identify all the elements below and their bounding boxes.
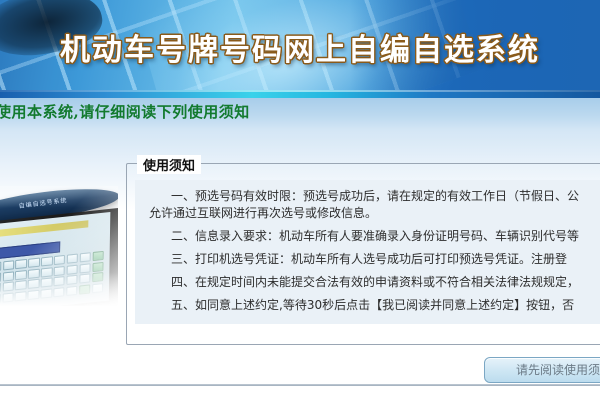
kiosk-key [41,267,52,277]
notice-item-line: 一、预选号码有效时限：预选号成功后，请在规定的有效工作日（节假日、公 [149,188,600,205]
kiosk-key [3,260,14,270]
kiosk-key [28,268,39,278]
kiosk-key [0,262,1,272]
notice-item: 三、打印机选号凭证：机动车所有人选号成功后可打印预选号凭证。注册登 [135,251,600,268]
notice-item-line: 四、在规定时间内未能提交合法有效的申请资料或不符合相关法律法规规定， [149,274,600,291]
kiosk-key [2,281,13,291]
kiosk-key [15,280,26,290]
kiosk-key [92,251,103,261]
kiosk-key [54,265,65,275]
kiosk-key [41,277,52,287]
notice-item: 一、预选号码有效时限：预选号成功后，请在规定的有效工作日（节假日、公 允许通过互… [135,188,600,222]
notice-item: 四、在规定时间内未能提交合法有效的申请资料或不符合相关法律法规规定， [135,274,600,291]
notice-item-line: 三、打印机选号凭证：机动车所有人选号成功后可打印预选号凭证。注册登 [149,251,600,268]
kiosk-screen-titlebar [0,220,88,240]
kiosk-key [41,288,52,298]
subtitle-text: 使用本系统,请仔细阅读下列使用须知 [0,101,250,122]
usage-notice-body: 一、预选号码有效时限：预选号成功后，请在规定的有效工作日（节假日、公 允许通过互… [135,180,600,324]
notice-item: 二、信息录入要求：机动车所有人要准确录入身份证明号码、车辆识别代号等 [135,228,600,245]
kiosk-key [0,293,1,303]
kiosk-key [3,271,14,281]
kiosk-key [41,256,52,266]
page-title: 机动车号牌号码网上自编自选系统 [0,25,600,69]
notice-item-line: 五、如同意上述约定,等待30秒后点击【我已阅读并同意上述约定】按钮，否 [149,297,600,314]
kiosk-key [67,254,78,264]
kiosk-key [16,259,27,269]
page-root: 机动车号牌号码网上自编自选系统 机动车号牌号码网上自编自选系统 使用本系统,请仔… [0,0,600,400]
kiosk-key [54,276,65,286]
kiosk-key [79,284,90,294]
kiosk-photo: 自编自选号系统 [0,186,118,306]
notice-item-line-cont: 允许通过互联网进行再次选号或修改信息。 [149,205,600,222]
kiosk-key [92,261,103,271]
notice-item-line: 二、信息录入要求：机动车所有人要准确录入身份证明号码、车辆识别代号等 [149,228,600,245]
kiosk-key [54,255,65,265]
kiosk-key [2,292,13,302]
kiosk-key [79,252,90,262]
kiosk-key [92,283,103,293]
header-divider-highlight [0,90,600,92]
kiosk-key [92,272,103,282]
kiosk-key [28,289,39,299]
kiosk-key [79,263,90,273]
kiosk-key [66,264,77,274]
kiosk-key [66,275,77,285]
kiosk-key [0,272,1,282]
kiosk-key [15,269,26,279]
usage-notice-panel: 使用须知 一、预选号码有效时限：预选号成功后，请在规定的有效工作日（节假日、公 … [126,163,600,345]
kiosk-screen [0,212,110,306]
kiosk-key [0,283,1,293]
kiosk-key [28,279,39,289]
kiosk-key [15,291,26,301]
notice-item: 五、如同意上述约定,等待30秒后点击【我已阅读并同意上述约定】按钮，否 [135,297,600,314]
usage-notice-legend: 使用须知 [137,155,201,174]
kiosk-key [66,285,77,295]
footer-area [0,386,600,400]
kiosk-onscreen-keyboard [0,251,104,306]
read-notice-button[interactable]: 请先阅读使用须知 [484,357,600,383]
header-banner: 机动车号牌号码网上自编自选系统 机动车号牌号码网上自编自选系统 [0,0,600,90]
kiosk-key [28,258,39,268]
kiosk-key [53,287,64,297]
kiosk-key [79,273,90,283]
